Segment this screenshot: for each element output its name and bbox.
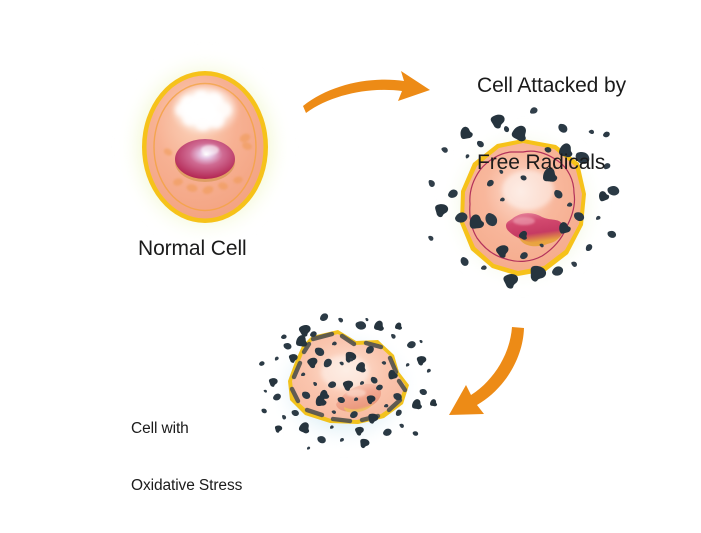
nucleus-icon xyxy=(175,139,235,182)
label-cell-attacked-by-free-radicals: Cell Attacked by Free Radicals xyxy=(477,22,626,227)
label-normal-cell: Normal Cell xyxy=(138,236,247,262)
label-cell-with-oxidative-stress: Cell with Oxidative Stress xyxy=(131,382,242,533)
label-attacked-line-2: Free Radicals xyxy=(477,150,626,176)
arrow-2-icon xyxy=(449,327,524,415)
arrow-1-icon xyxy=(303,71,430,113)
diagram-canvas: Normal Cell Cell Attacked by Free Radica… xyxy=(0,0,701,469)
endoplasmic-reticulum-icon xyxy=(172,86,238,136)
label-oxidative-line-2: Oxidative Stress xyxy=(131,477,242,496)
label-attacked-line-1: Cell Attacked by xyxy=(477,73,626,99)
normal-cell[interactable] xyxy=(142,71,268,223)
label-oxidative-line-1: Cell with xyxy=(131,420,242,439)
